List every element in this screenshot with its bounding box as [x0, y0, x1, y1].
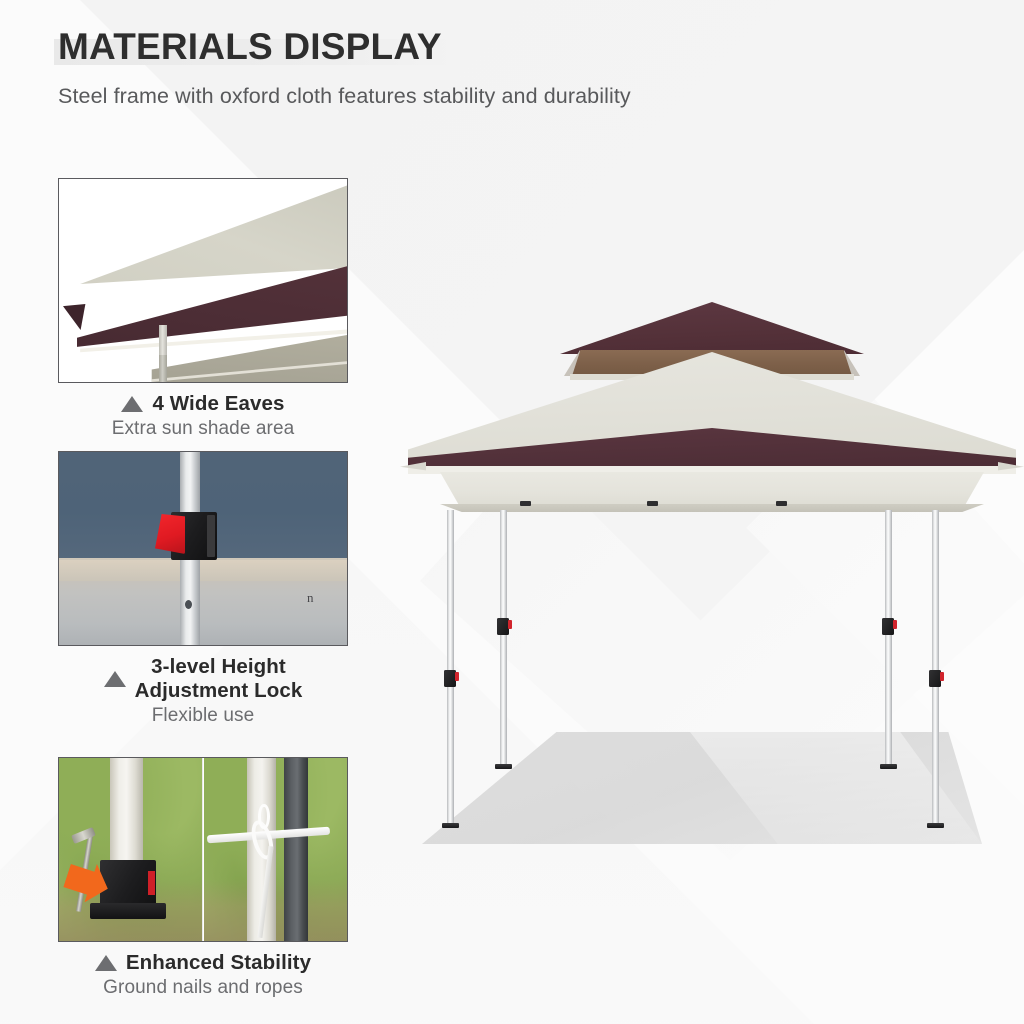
- feature-heading: Enhanced Stability: [126, 951, 311, 975]
- caption-heading-row: 4 Wide Eaves: [58, 392, 348, 416]
- header: MATERIALS DISPLAY Steel frame with oxfor…: [0, 0, 1024, 109]
- gazebo-canopy: [400, 280, 1024, 860]
- leg-foot-outer-right: [927, 823, 944, 828]
- caption-heading-row: Enhanced Stability: [58, 951, 348, 975]
- leg-height-lock-inner-right: [882, 618, 894, 635]
- gazebo-leg-outer-left: [447, 510, 454, 826]
- feature-image-enhanced-stability: [58, 757, 348, 942]
- leg-height-lock-inner-left: [497, 618, 509, 635]
- gazebo-leg-outer-right: [932, 510, 939, 826]
- feature-image-wide-eaves: [58, 178, 348, 383]
- feature-card-wide-eaves: 4 Wide Eaves Extra sun shade area: [58, 178, 348, 440]
- feature-heading-line2: Adjustment Lock: [135, 679, 303, 702]
- feature-subtext: Extra sun shade area: [58, 418, 348, 440]
- grass-dry-overlay: [204, 879, 347, 941]
- feature-card-enhanced-stability: Enhanced Stability Ground nails and rope…: [58, 757, 348, 999]
- feature-heading: 3-level Height Adjustment Lock: [135, 655, 303, 703]
- gazebo-leg-inner-right: [885, 510, 892, 767]
- lock-side-tab: [207, 515, 215, 557]
- lock-embossed-mark: n: [307, 590, 314, 606]
- product-illustration: [400, 280, 1024, 860]
- feature-caption-enhanced-stability: Enhanced Stability Ground nails and rope…: [58, 951, 348, 999]
- valance-clip: [520, 501, 531, 506]
- feature-heading: 4 Wide Eaves: [152, 392, 284, 416]
- valance-clip: [647, 501, 658, 506]
- feature-card-height-lock: n 3-level Height Adjustment Lock Flexibl…: [58, 451, 348, 727]
- feature-subtext: Ground nails and ropes: [58, 977, 348, 999]
- leg-foot-outer-left: [442, 823, 459, 828]
- lock-ground-highlight: [59, 558, 347, 581]
- valance-clip: [776, 501, 787, 506]
- roof-peak-cap: [560, 302, 864, 354]
- triangle-up-icon: [121, 396, 143, 412]
- feature-heading-line1: 3-level Height: [151, 655, 286, 678]
- feature-caption-height-lock: 3-level Height Adjustment Lock Flexible …: [58, 655, 348, 727]
- stability-foot-red-mark: [148, 871, 155, 895]
- eaves-pole-lower: [159, 355, 167, 383]
- feature-subtext: Flexible use: [58, 705, 348, 727]
- leg-foot-inner-left: [495, 764, 512, 769]
- stability-pane-guy-rope: [204, 758, 347, 941]
- triangle-up-icon: [95, 955, 117, 971]
- stability-base-plate: [90, 903, 166, 919]
- stability-pane-divider: [202, 758, 203, 941]
- triangle-up-icon: [104, 671, 126, 687]
- leg-height-lock-outer-left: [444, 670, 456, 687]
- page-title-wrap: MATERIALS DISPLAY: [58, 26, 442, 67]
- caption-heading-row: 3-level Height Adjustment Lock: [58, 655, 348, 703]
- feature-image-height-lock: n: [58, 451, 348, 646]
- stability-pane-ground-nail: [59, 758, 202, 941]
- page-title: MATERIALS DISPLAY: [58, 26, 442, 67]
- rope-dark-pole: [284, 758, 308, 941]
- feature-caption-wide-eaves: 4 Wide Eaves Extra sun shade area: [58, 392, 348, 440]
- page-subtitle: Steel frame with oxford cloth features s…: [58, 84, 1024, 109]
- rope-loop: [258, 804, 269, 830]
- lock-pin-hole: [185, 600, 192, 609]
- leg-foot-inner-right: [880, 764, 897, 769]
- leg-height-lock-outer-right: [929, 670, 941, 687]
- gazebo-leg-inner-left: [500, 510, 507, 767]
